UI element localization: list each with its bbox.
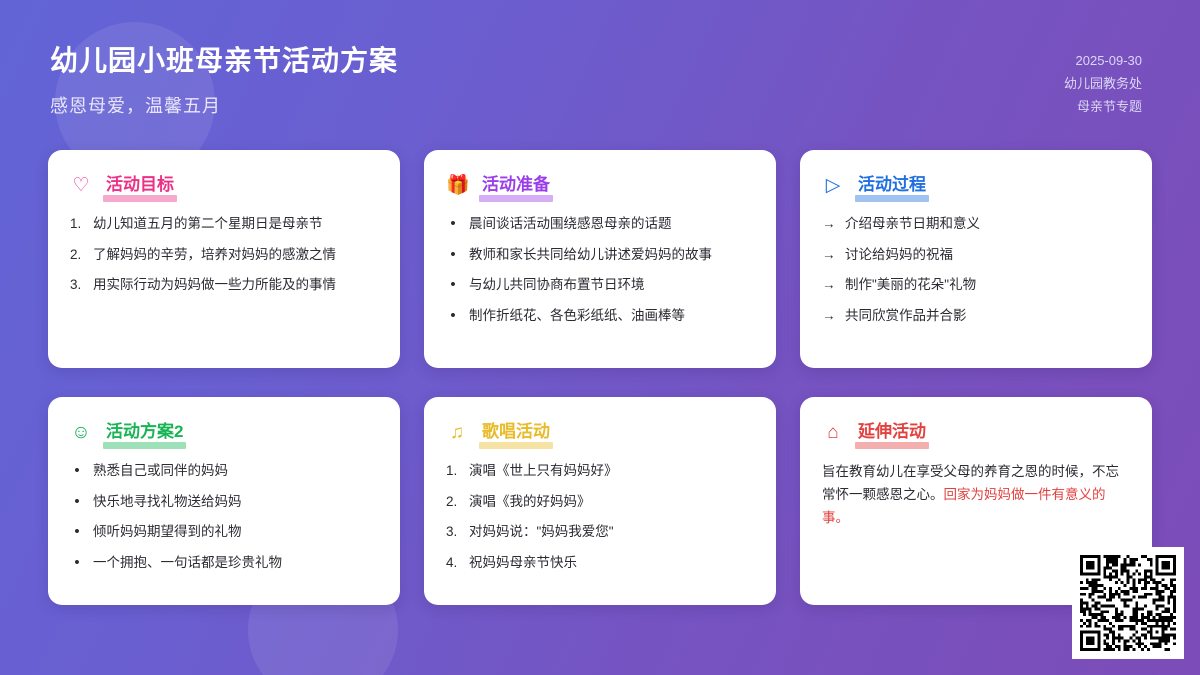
list-item-text: 演唱《我的好妈妈》 [469,492,754,512]
list-marker-bullet: • [446,306,460,326]
card-activity-goal: ♡活动目标1.幼儿知道五月的第二个星期日是母亲节2.了解妈妈的辛劳，培养对妈妈的… [48,150,400,368]
card-header: ♫歌唱活动 [446,421,754,445]
list-item: •快乐地寻找礼物送给妈妈 [70,492,378,512]
list-item-text: 用实际行动为妈妈做一些力所能及的事情 [93,275,378,295]
list-marker-number: 3. [70,275,84,295]
list-item-text: 与幼儿共同协商布置节日环境 [469,275,754,295]
list-item: •倾听妈妈期望得到的礼物 [70,522,378,542]
card-list: 1.演唱《世上只有妈妈好》2.演唱《我的好妈妈》3.对妈妈说："妈妈我爱您"4.… [446,461,754,572]
header-meta: 2025-09-30 幼儿园教务处 母亲节专题 [1064,44,1142,118]
card-title: 延伸活动 [855,421,929,445]
meta-topic: 母亲节专题 [1064,96,1142,119]
list-marker-bullet: • [70,492,84,512]
list-item: 1.幼儿知道五月的第二个星期日是母亲节 [70,214,378,234]
list-item-text: 制作折纸花、各色彩纸纸、油画棒等 [469,306,754,326]
card-list: •熟悉自己或同伴的妈妈•快乐地寻找礼物送给妈妈•倾听妈妈期望得到的礼物•一个拥抱… [70,461,378,572]
card-paragraph: 旨在教育幼儿在享受父母的养育之恩的时候，不忘常怀一颗感恩之心。回家为妈妈做一件有… [822,461,1130,530]
card-title: 活动目标 [103,174,177,198]
list-item: •与幼儿共同协商布置节日环境 [446,275,754,295]
music-note-icon: ♫ [446,423,468,442]
list-marker-number: 2. [70,245,84,265]
list-marker-arrow: → [822,275,836,295]
list-item: 1.演唱《世上只有妈妈好》 [446,461,754,481]
heart-icon: ♡ [70,176,92,195]
card-title: 歌唱活动 [479,421,553,445]
home-icon: ⌂ [822,423,844,442]
list-item: •晨间谈话活动围绕感恩母亲的话题 [446,214,754,234]
list-item: →讨论给妈妈的祝福 [822,245,1130,265]
list-marker-number: 4. [446,553,460,573]
list-marker-arrow: → [822,245,836,265]
card-title: 活动准备 [479,174,553,198]
list-item: 3.对妈妈说："妈妈我爱您" [446,522,754,542]
list-item-text: 晨间谈话活动围绕感恩母亲的话题 [469,214,754,234]
list-marker-bullet: • [446,214,460,234]
card-activity-process: ▷活动过程→介绍母亲节日期和意义→讨论给妈妈的祝福→制作"美丽的花朵"礼物→共同… [800,150,1152,368]
list-item: •一个拥抱、一句话都是珍贵礼物 [70,553,378,573]
header-text-block: 幼儿园小班母亲节活动方案 感恩母爱，温馨五月 [50,44,398,118]
qr-code-container[interactable] [1072,547,1184,659]
list-item: •制作折纸花、各色彩纸纸、油画棒等 [446,306,754,326]
list-item-text: 教师和家长共同给幼儿讲述爱妈妈的故事 [469,245,754,265]
list-item: →制作"美丽的花朵"礼物 [822,275,1130,295]
list-item: 2.演唱《我的好妈妈》 [446,492,754,512]
card-singing-activity: ♫歌唱活动1.演唱《世上只有妈妈好》2.演唱《我的好妈妈》3.对妈妈说："妈妈我… [424,397,776,605]
list-item-text: 快乐地寻找礼物送给妈妈 [93,492,378,512]
list-item: 2.了解妈妈的辛劳，培养对妈妈的感激之情 [70,245,378,265]
list-item-text: 共同欣赏作品并合影 [845,306,1130,326]
list-marker-bullet: • [70,553,84,573]
list-marker-number: 3. [446,522,460,542]
meta-organization: 幼儿园教务处 [1064,73,1142,96]
play-triangle-icon: ▷ [822,176,844,195]
list-item-text: 制作"美丽的花朵"礼物 [845,275,1130,295]
smiley-icon: ☺ [70,423,92,442]
list-marker-arrow: → [822,214,836,234]
card-header: ⌂延伸活动 [822,421,1130,445]
list-item-text: 一个拥抱、一句话都是珍贵礼物 [93,553,378,573]
list-item: →介绍母亲节日期和意义 [822,214,1130,234]
page-title: 幼儿园小班母亲节活动方案 [50,44,398,78]
list-item-text: 演唱《世上只有妈妈好》 [469,461,754,481]
meta-date: 2025-09-30 [1064,50,1142,73]
list-item: •熟悉自己或同伴的妈妈 [70,461,378,481]
list-marker-bullet: • [70,461,84,481]
list-marker-number: 2. [446,492,460,512]
card-title: 活动过程 [855,174,929,198]
list-item: →共同欣赏作品并合影 [822,306,1130,326]
page-subtitle: 感恩母爱，温馨五月 [50,92,398,118]
list-item-text: 倾听妈妈期望得到的礼物 [93,522,378,542]
card-list: 1.幼儿知道五月的第二个星期日是母亲节2.了解妈妈的辛劳，培养对妈妈的感激之情3… [70,214,378,295]
card-header: ♡活动目标 [70,174,378,198]
card-header: ▷活动过程 [822,174,1130,198]
list-item-text: 祝妈妈母亲节快乐 [469,553,754,573]
card-header: 🎁活动准备 [446,174,754,198]
list-marker-bullet: • [70,522,84,542]
list-item-text: 对妈妈说："妈妈我爱您" [469,522,754,542]
card-header: ☺活动方案2 [70,421,378,445]
card-activity-preparation: 🎁活动准备•晨间谈话活动围绕感恩母亲的话题•教师和家长共同给幼儿讲述爱妈妈的故事… [424,150,776,368]
list-item: 4.祝妈妈母亲节快乐 [446,553,754,573]
list-marker-bullet: • [446,275,460,295]
card-grid: ♡活动目标1.幼儿知道五月的第二个星期日是母亲节2.了解妈妈的辛劳，培养对妈妈的… [0,150,1200,605]
list-marker-arrow: → [822,306,836,326]
qr-code [1080,555,1176,651]
card-list: •晨间谈话活动围绕感恩母亲的话题•教师和家长共同给幼儿讲述爱妈妈的故事•与幼儿共… [446,214,754,325]
card-activity-plan-2: ☺活动方案2•熟悉自己或同伴的妈妈•快乐地寻找礼物送给妈妈•倾听妈妈期望得到的礼… [48,397,400,605]
list-item-text: 讨论给妈妈的祝福 [845,245,1130,265]
card-list: →介绍母亲节日期和意义→讨论给妈妈的祝福→制作"美丽的花朵"礼物→共同欣赏作品并… [822,214,1130,325]
list-item: 3.用实际行动为妈妈做一些力所能及的事情 [70,275,378,295]
list-marker-number: 1. [70,214,84,234]
list-item: •教师和家长共同给幼儿讲述爱妈妈的故事 [446,245,754,265]
page-header: 幼儿园小班母亲节活动方案 感恩母爱，温馨五月 2025-09-30 幼儿园教务处… [0,0,1200,150]
list-marker-bullet: • [446,245,460,265]
list-item-text: 介绍母亲节日期和意义 [845,214,1130,234]
card-title: 活动方案2 [103,421,186,445]
list-item-text: 熟悉自己或同伴的妈妈 [93,461,378,481]
list-item-text: 幼儿知道五月的第二个星期日是母亲节 [93,214,378,234]
gift-icon: 🎁 [446,176,468,195]
list-marker-number: 1. [446,461,460,481]
list-item-text: 了解妈妈的辛劳，培养对妈妈的感激之情 [93,245,378,265]
